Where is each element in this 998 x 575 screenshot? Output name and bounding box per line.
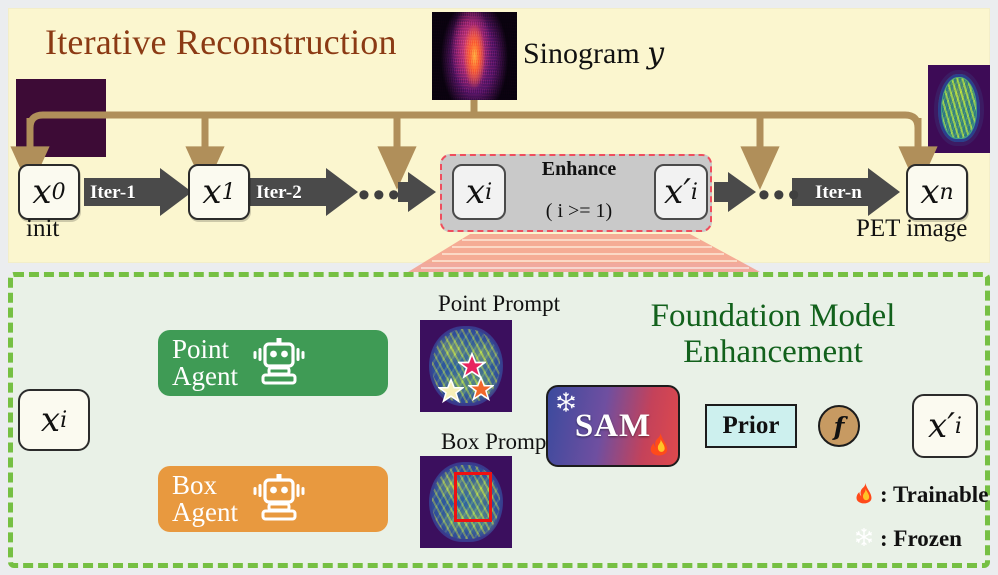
sam-label: SAM (575, 408, 651, 445)
figure-canvas: Iterative Reconstruction Sinogram y (0, 0, 998, 575)
point-prompt-label: Point Prompt (438, 291, 560, 317)
iteration-label-2: Iter-2 (256, 182, 302, 204)
prior-block: Prior (705, 404, 797, 448)
sinogram-texture (432, 12, 517, 100)
point-agent-box[interactable]: Point Agent (158, 330, 388, 396)
legend-trainable: : Trainable (854, 482, 988, 508)
panel-title-line1: Foundation Model (583, 299, 963, 335)
sinogram-label-text: Sinogram (523, 37, 640, 70)
node-xi-prime-bottom: x′i (912, 394, 978, 458)
node-x0-sub: 0 (52, 180, 66, 205)
snowflake-icon (854, 526, 874, 552)
pet-image-label: PET image (856, 215, 967, 243)
point-agent-line1: Point (172, 336, 238, 363)
box-marker-rectangle (454, 472, 492, 522)
enhance-label: Enhance (504, 158, 654, 181)
prior-label: Prior (723, 412, 780, 440)
node-xi-prime-top: x′i (654, 164, 708, 220)
node-xi-top-base: x (466, 172, 485, 212)
flame-icon (648, 432, 670, 461)
box-agent-line1: Box (172, 472, 238, 499)
node-xn-base: x (920, 172, 939, 212)
box-agent-box[interactable]: Box Agent (158, 466, 388, 532)
node-xi-prime-bottom-sub: i (955, 414, 962, 439)
box-prompt-tile (420, 456, 512, 548)
legend-trainable-text: : Trainable (880, 482, 988, 508)
point-agent-line2: Agent (172, 363, 238, 390)
ellipsis-middle: ••• (358, 178, 403, 212)
node-xi-prime-bottom-base: x′ (928, 406, 955, 446)
node-xi-prime-top-base: x′ (664, 172, 691, 212)
legend-frozen: : Frozen (854, 526, 962, 552)
box-agent-line2: Agent (172, 499, 238, 526)
node-xn: xn (906, 164, 968, 220)
node-x1-base: x (202, 172, 221, 212)
pet-brain-texture (942, 78, 976, 138)
pet-brain-render (938, 74, 980, 142)
snowflake-icon (555, 391, 577, 418)
box-prompt-label: Box Prompt (441, 429, 553, 455)
node-x1-sub: 1 (222, 180, 236, 205)
iteration-label-n: Iter-n (815, 182, 862, 204)
point-agent-label: Point Agent (172, 336, 238, 390)
node-xn-sub: n (940, 180, 954, 205)
pet-image-tile (928, 65, 990, 153)
node-xi-prime-top-sub: i (691, 180, 698, 205)
iteration-label-1: Iter-1 (90, 182, 136, 204)
legend-frozen-text: : Frozen (880, 526, 962, 552)
node-x1: x1 (188, 164, 250, 220)
sinogram-symbol: y (647, 36, 664, 71)
fusion-label: f (834, 412, 845, 441)
panel-title-foundation-model: Foundation Model Enhancement (583, 299, 963, 370)
flame-icon (854, 482, 874, 508)
sinogram-label: Sinogram y (523, 36, 664, 71)
fusion-node: f (818, 405, 860, 447)
node-xi-bottom: xi (18, 389, 90, 451)
init-label: init (26, 215, 59, 243)
panel-title-line2: Enhancement (583, 335, 963, 371)
sam-block[interactable]: SAM (546, 385, 680, 467)
node-xi-bottom-base: x (41, 400, 60, 440)
point-prompt-tile (420, 320, 512, 412)
node-xi-top-sub: i (485, 180, 492, 205)
box-agent-label: Box Agent (172, 472, 238, 526)
node-x0: x0 (18, 164, 80, 220)
ellipsis-right: ••• (758, 178, 803, 212)
node-xi-top: xi (452, 164, 506, 220)
robot-icon (252, 473, 306, 526)
enhance-condition: ( i >= 1) (504, 200, 654, 223)
initial-image-tile (16, 79, 106, 157)
panel-title-iterative-reconstruction: Iterative Reconstruction (45, 21, 397, 63)
robot-icon (252, 337, 306, 390)
node-x0-base: x (32, 172, 51, 212)
node-xi-bottom-sub: i (60, 408, 67, 433)
sinogram-image-tile (432, 12, 517, 100)
